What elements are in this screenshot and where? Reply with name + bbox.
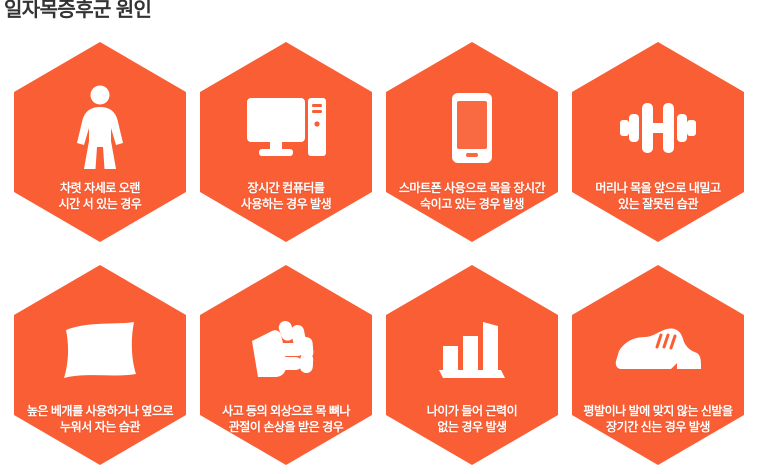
shoe-icon [572, 303, 744, 399]
bar-chart-icon [386, 303, 558, 399]
hexagon-card-2[interactable]: 장시간 컴퓨터를 사용하는 경우 발생 [200, 42, 372, 242]
hexagon-grid: 차렷 자세로 오랜 시간 서 있는 경우 [0, 42, 760, 465]
desktop-computer-icon [200, 80, 372, 176]
hexagon-card-label: 평발이나 발에 맞지 않는 신발을 장기간 신는 경우 발생 [578, 403, 738, 435]
smartphone-icon [386, 80, 558, 176]
hexagon-card-1[interactable]: 차렷 자세로 오랜 시간 서 있는 경우 [14, 42, 186, 242]
hexagon-card-label: 사고 등의 외상으로 목 뼈나 관절이 손상을 받은 경우 [206, 403, 366, 435]
hexagon-row-2: 높은 베개를 사용하거나 옆으로 누워서 자는 습관 [0, 265, 760, 465]
hexagon-card-label: 스마트폰 사용으로 목을 장시간 숙이고 있는 경우 발생 [392, 180, 552, 212]
dumbbell-icon [572, 80, 744, 176]
hexagon-row-1: 차렷 자세로 오랜 시간 서 있는 경우 [0, 42, 760, 242]
hexagon-card-3[interactable]: 스마트폰 사용으로 목을 장시간 숙이고 있는 경우 발생 [386, 42, 558, 242]
hexagon-card-label: 장시간 컴퓨터를 사용하는 경우 발생 [206, 180, 366, 212]
standing-woman-icon [14, 80, 186, 176]
hexagon-card-6[interactable]: 사고 등의 외상으로 목 뼈나 관절이 손상을 받은 경우 [200, 265, 372, 465]
hexagon-card-5[interactable]: 높은 베개를 사용하거나 옆으로 누워서 자는 습관 [14, 265, 186, 465]
infographic-page: 일자목증후군 원인 차렷 자세로 오랜 시간 서 있는 경우 [0, 0, 760, 474]
hexagon-card-label: 머리나 목을 앞으로 내밀고 있는 잘못된 습관 [578, 180, 738, 212]
hexagon-card-7[interactable]: 나이가 들어 근력이 없는 경우 발생 [386, 265, 558, 465]
hexagon-card-4[interactable]: 머리나 목을 앞으로 내밀고 있는 잘못된 습관 [572, 42, 744, 242]
pillow-icon [14, 303, 186, 399]
page-title: 일자목증후군 원인 [4, 0, 151, 24]
hexagon-card-8[interactable]: 평발이나 발에 맞지 않는 신발을 장기간 신는 경우 발생 [572, 265, 744, 465]
fist-hand-icon [200, 303, 372, 399]
hexagon-card-label: 차렷 자세로 오랜 시간 서 있는 경우 [20, 180, 180, 212]
hexagon-card-label: 높은 베개를 사용하거나 옆으로 누워서 자는 습관 [20, 403, 180, 435]
hexagon-card-label: 나이가 들어 근력이 없는 경우 발생 [392, 403, 552, 435]
